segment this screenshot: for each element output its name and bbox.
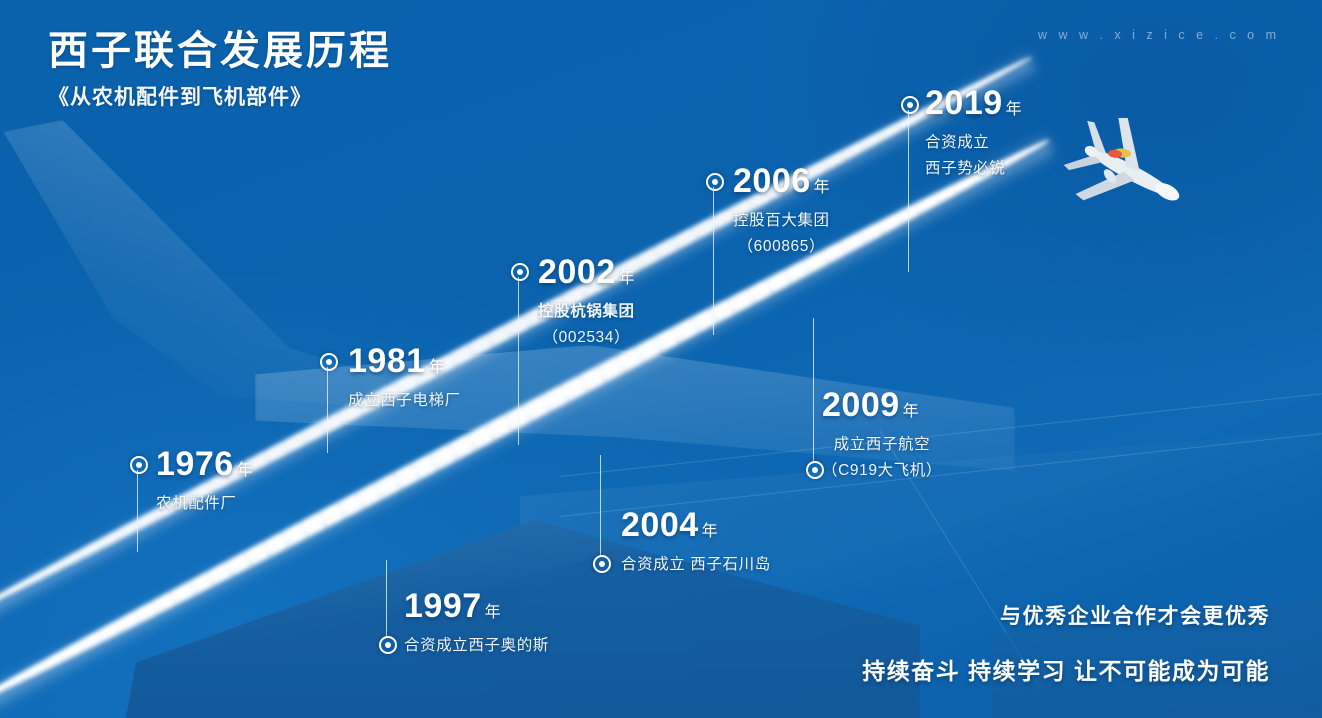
year-suffix: 年 bbox=[237, 462, 253, 479]
year-value: 2002 bbox=[538, 253, 616, 291]
slogan-line-1: 与优秀企业合作才会更优秀 bbox=[862, 600, 1270, 630]
milestone-year-2006: 2006年 bbox=[733, 164, 830, 198]
year-suffix: 年 bbox=[814, 179, 830, 196]
year-suffix: 年 bbox=[429, 359, 445, 376]
milestone-year-2002: 2002年 bbox=[538, 255, 635, 289]
year-value: 2004 bbox=[621, 506, 699, 544]
milestone-desc-2006-line1: 控股百大集团 bbox=[733, 209, 830, 233]
year-suffix: 年 bbox=[1006, 101, 1022, 118]
airplane-icon bbox=[1062, 118, 1202, 228]
milestone-desc-2009-line1: 成立西子航空 bbox=[822, 433, 942, 457]
year-suffix: 年 bbox=[619, 270, 635, 287]
milestone-desc-2019-line2: 西子势必锐 bbox=[925, 157, 1022, 181]
milestone-1981: 1981年 成立西子电梯厂 bbox=[348, 344, 461, 413]
leader-line-1997 bbox=[386, 560, 387, 638]
milestone-year-1976: 1976年 bbox=[156, 447, 253, 481]
milestone-2006: 2006年 控股百大集团 （600865） bbox=[733, 164, 830, 259]
milestone-desc-1976: 农机配件厂 bbox=[156, 492, 253, 516]
milestone-2004: 2004年 合资成立 西子石川岛 bbox=[621, 508, 771, 577]
milestone-year-1997: 1997年 bbox=[404, 589, 549, 623]
milestone-desc-1981: 成立西子电梯厂 bbox=[348, 389, 461, 413]
page-subtitle: 《从农机配件到飞机部件》 bbox=[48, 81, 392, 111]
milestone-year-2019: 2019年 bbox=[925, 86, 1022, 120]
milestone-2002: 2002年 控股杭锅集团 （002534） bbox=[538, 255, 635, 350]
leader-line-2009 bbox=[813, 318, 814, 463]
milestone-2009: 2009年 成立西子航空 （C919大飞机） bbox=[822, 388, 942, 483]
slogan-line-2: 持续奋斗 持续学习 让不可能成为可能 bbox=[862, 652, 1270, 686]
year-value: 2019 bbox=[925, 84, 1003, 122]
leader-line-1976 bbox=[137, 470, 138, 552]
leader-line-2002 bbox=[518, 277, 519, 445]
page-title: 西子联合发展历程 bbox=[48, 28, 392, 75]
milestone-2019: 2019年 合资成立 西子势必锐 bbox=[925, 86, 1022, 181]
leader-line-1981 bbox=[327, 367, 328, 453]
year-value: 1997 bbox=[404, 587, 482, 625]
timeline-dot-2019[interactable] bbox=[901, 96, 919, 114]
timeline-dot-1997[interactable] bbox=[379, 636, 397, 654]
milestone-year-1981: 1981年 bbox=[348, 344, 461, 378]
poster-header: 西子联合发展历程 《从农机配件到飞机部件》 bbox=[48, 28, 392, 111]
timeline-dot-2006[interactable] bbox=[706, 173, 724, 191]
year-value: 1981 bbox=[348, 342, 426, 380]
milestone-year-2009: 2009年 bbox=[822, 388, 942, 422]
leader-line-2006 bbox=[713, 187, 714, 335]
timeline-dot-1981[interactable] bbox=[320, 353, 338, 371]
year-value: 2009 bbox=[822, 386, 900, 424]
leader-line-2019 bbox=[908, 110, 909, 272]
slogan-block: 与优秀企业合作才会更优秀 持续奋斗 持续学习 让不可能成为可能 bbox=[862, 600, 1270, 686]
year-suffix: 年 bbox=[702, 523, 718, 540]
timeline-dot-2004[interactable] bbox=[593, 555, 611, 573]
milestone-desc-2004: 合资成立 西子石川岛 bbox=[621, 553, 771, 577]
milestone-year-2004: 2004年 bbox=[621, 508, 771, 542]
year-suffix: 年 bbox=[485, 604, 501, 621]
milestone-desc-2002-line1: 控股杭锅集团 bbox=[538, 300, 635, 324]
year-suffix: 年 bbox=[903, 403, 919, 420]
leader-line-2004 bbox=[600, 455, 601, 557]
milestone-desc-2019-line1: 合资成立 bbox=[925, 131, 1022, 155]
milestone-desc-1997: 合资成立西子奥的斯 bbox=[404, 634, 549, 658]
year-value: 2006 bbox=[733, 162, 811, 200]
milestone-desc-2009-line2: （C919大飞机） bbox=[822, 459, 942, 483]
timeline-dot-1976[interactable] bbox=[130, 456, 148, 474]
timeline-poster: 西子联合发展历程 《从农机配件到飞机部件》 w w w . x i z i c … bbox=[0, 0, 1322, 718]
timeline-dot-2002[interactable] bbox=[511, 263, 529, 281]
site-watermark: w w w . x i z i c e . c o m bbox=[1038, 28, 1280, 42]
milestone-desc-2006-line2: （600865） bbox=[733, 235, 830, 259]
milestone-desc-2002-line2: （002534） bbox=[538, 326, 635, 350]
milestone-1997: 1997年 合资成立西子奥的斯 bbox=[404, 589, 549, 658]
milestone-1976: 1976年 农机配件厂 bbox=[156, 447, 253, 516]
year-value: 1976 bbox=[156, 445, 234, 483]
